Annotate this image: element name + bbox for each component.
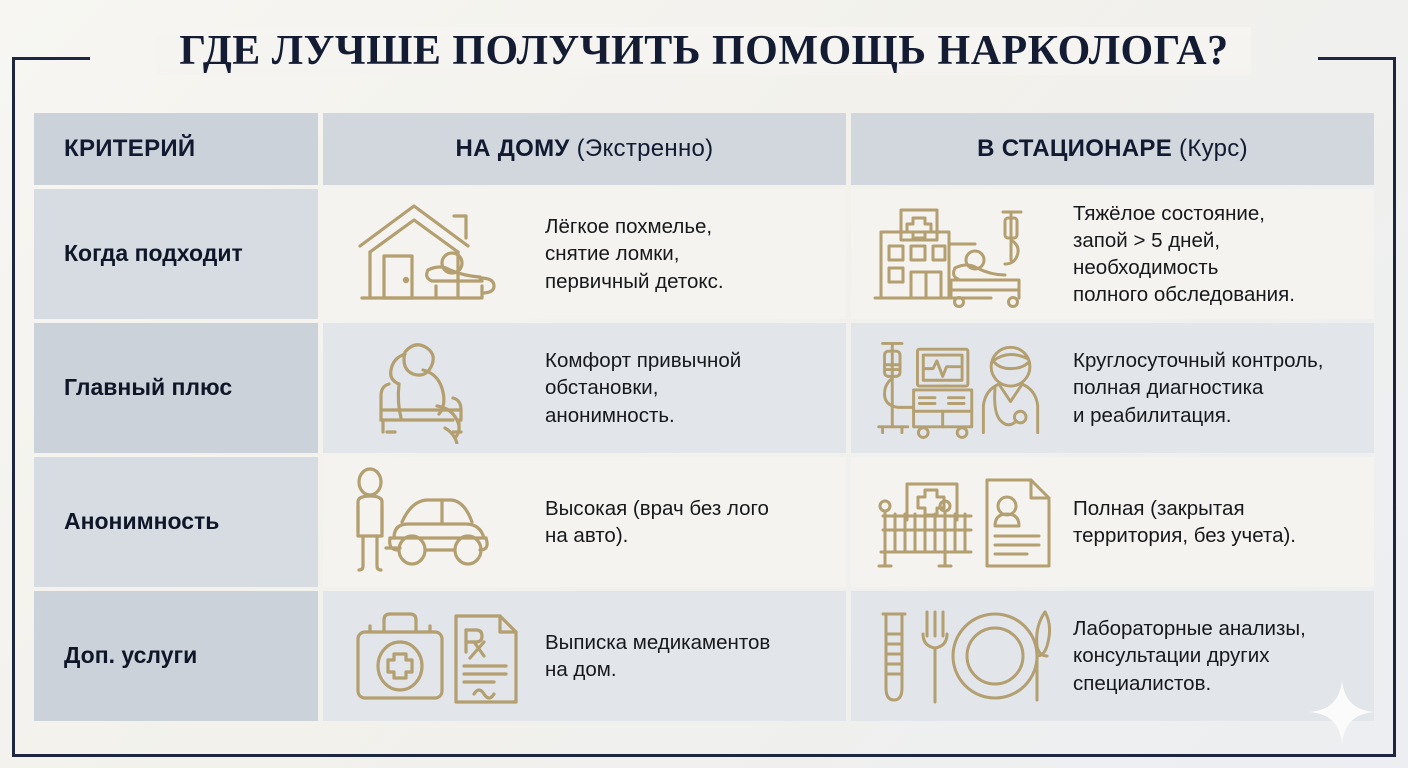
clinic-cell: Круглосуточный контроль, полная диагност… [851, 323, 1374, 453]
page-title: ГДЕ ЛУЧШЕ ПОЛУЧИТЬ ПОМОЩЬ НАРКОЛОГА? [0, 27, 1408, 75]
criterion-cell: Анонимность [34, 457, 318, 587]
clinic-cell: Полная (закрытая территория, без учета). [851, 457, 1374, 587]
header-home-light: (Экстренно) [577, 135, 714, 162]
criterion-label: Когда подходит [64, 240, 243, 268]
criterion-cell: Когда подходит [34, 189, 318, 319]
header-clinic-strong: В СТАЦИОНАРЕ [977, 135, 1179, 162]
criterion-cell: Главный плюс [34, 323, 318, 453]
home-cell: Выписка медикаментов на дом. [323, 591, 846, 721]
header-home-strong: НА ДОМУ [456, 135, 577, 162]
header-cell-home: НА ДОМУ (Экстренно) [323, 113, 846, 185]
header-clinic-label: В СТАЦИОНАРЕ (Курс) [977, 135, 1248, 163]
iv-drip-monitor-doctor-icon [869, 332, 1059, 444]
person-relaxing-in-armchair-icon [341, 332, 531, 444]
frame-right-segment [1393, 57, 1396, 757]
home-description: Выписка медикаментов на дом. [545, 629, 832, 683]
home-cell: Комфорт привычной обстановки, анонимност… [323, 323, 846, 453]
table-row: Когда подходит [34, 189, 1374, 319]
clinic-description: Лабораторные анализы, консультации други… [1073, 615, 1360, 696]
table-row: Доп. услуги [34, 591, 1374, 721]
header-criteria-label: КРИТЕРИЙ [64, 135, 195, 163]
criterion-cell: Доп. услуги [34, 591, 318, 721]
header-home-label: НА ДОМУ (Экстренно) [456, 135, 714, 163]
frame-bottom-segment [12, 754, 1396, 757]
hospital-building-with-patient-bed-icon [869, 198, 1059, 310]
person-beside-car-icon [341, 466, 531, 578]
table-header-row: КРИТЕРИЙ НА ДОМУ (Экстренно) В СТАЦИОНАР… [34, 113, 1374, 185]
clinic-cell: Тяжёлое состояние, запой > 5 дней, необх… [851, 189, 1374, 319]
home-description: Лёгкое похмелье, снятие ломки, первичный… [545, 213, 832, 294]
criterion-label: Доп. услуги [64, 642, 197, 670]
clinic-description: Полная (закрытая территория, без учета). [1073, 495, 1360, 549]
home-description: Комфорт привычной обстановки, анонимност… [545, 347, 832, 428]
fenced-territory-and-medical-record-icon [869, 466, 1059, 578]
infographic-page: ГДЕ ЛУЧШЕ ПОЛУЧИТЬ ПОМОЩЬ НАРКОЛОГА? КРИ… [0, 0, 1408, 768]
clinic-description: Круглосуточный контроль, полная диагност… [1073, 347, 1360, 428]
home-description: Высокая (врач без лого на авто). [545, 495, 832, 549]
frame-left-segment [12, 57, 15, 757]
clinic-description: Тяжёлое состояние, запой > 5 дней, необх… [1073, 200, 1360, 308]
page-title-text: ГДЕ ЛУЧШЕ ПОЛУЧИТЬ ПОМОЩЬ НАРКОЛОГА? [157, 27, 1250, 75]
header-cell-clinic: В СТАЦИОНАРЕ (Курс) [851, 113, 1374, 185]
home-cell: Лёгкое похмелье, снятие ломки, первичный… [323, 189, 846, 319]
clinic-cell: Лабораторные анализы, консультации други… [851, 591, 1374, 721]
table-row: Анонимность [34, 457, 1374, 587]
house-with-reclining-person-icon [341, 198, 531, 310]
header-clinic-light: (Курс) [1179, 135, 1248, 162]
home-cell: Высокая (врач без лого на авто). [323, 457, 846, 587]
criterion-label: Главный плюс [64, 374, 232, 402]
comparison-table: КРИТЕРИЙ НА ДОМУ (Экстренно) В СТАЦИОНАР… [34, 113, 1374, 721]
criterion-label: Анонимность [64, 508, 219, 536]
first-aid-kit-and-prescription-icon [341, 600, 531, 712]
test-tube-and-cutlery-plate-icon [869, 600, 1059, 712]
table-row: Главный плюс [34, 323, 1374, 453]
header-cell-criteria: КРИТЕРИЙ [34, 113, 318, 185]
